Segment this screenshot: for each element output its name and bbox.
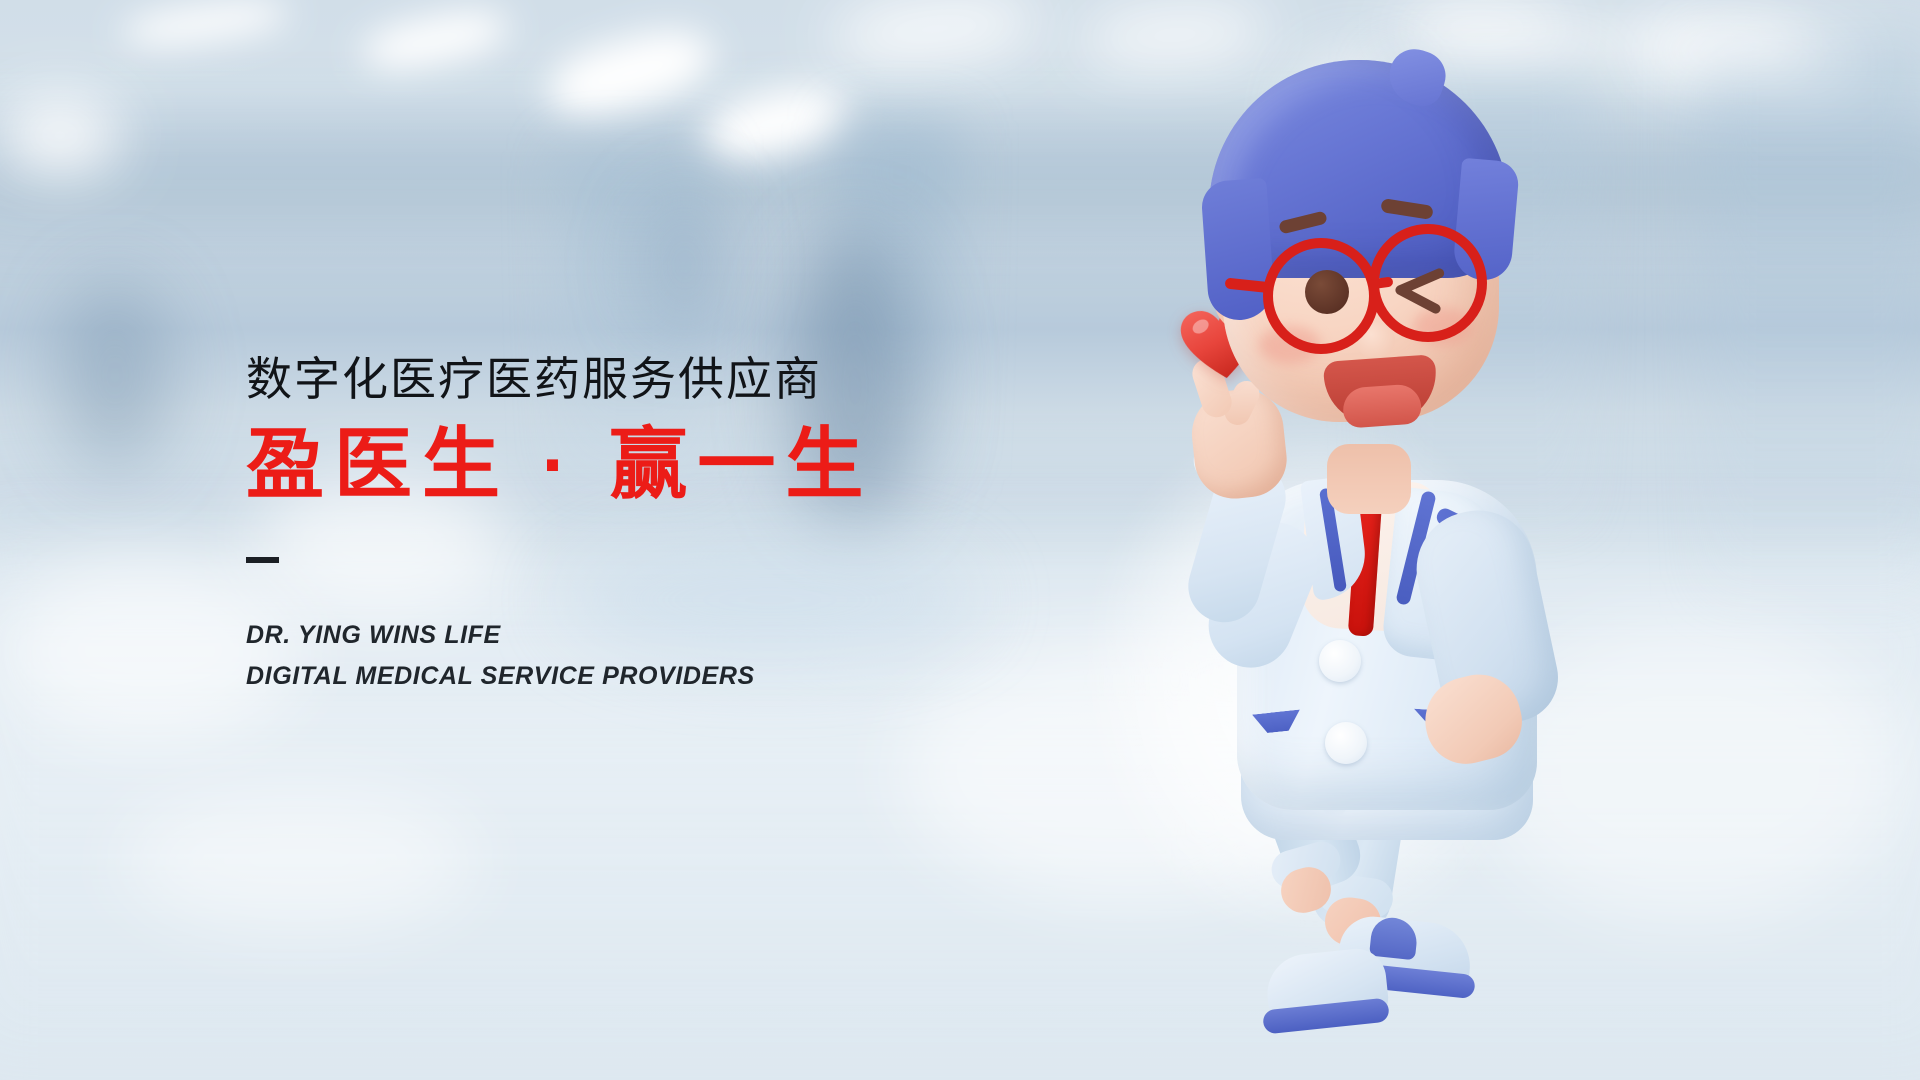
glasses-lens-left: [1263, 238, 1379, 354]
background-silhouette: [60, 280, 170, 470]
coat-button-upper: [1319, 640, 1361, 682]
banner-subheadline: 数字化医疗医药服务供应商: [246, 352, 1006, 406]
banner-copy: 数字化医疗医药服务供应商 盈医生 · 赢一生 DR. YING WINS LIF…: [246, 352, 1006, 696]
ceiling-light: [0, 96, 120, 174]
banner-headline: 盈医生 · 赢一生: [246, 420, 1006, 509]
coat-button-lower: [1325, 722, 1367, 764]
neck: [1327, 444, 1411, 514]
doctor-mascot-illustration: [1175, 40, 1655, 1050]
corridor-wall: [1700, 40, 1920, 600]
latin-line-two: DIGITAL MEDICAL SERVICE PROVIDERS: [246, 656, 1006, 697]
background-silhouette: [640, 190, 730, 340]
tongue: [1342, 383, 1423, 428]
divider-dash: [246, 557, 279, 563]
hero-banner: 数字化医疗医药服务供应商 盈医生 · 赢一生 DR. YING WINS LIF…: [0, 0, 1920, 1080]
banner-latin-text: DR. YING WINS LIFE DIGITAL MEDICAL SERVI…: [246, 615, 1006, 696]
latin-line-one: DR. YING WINS LIFE: [246, 615, 1006, 656]
background-highlight: [120, 790, 480, 930]
